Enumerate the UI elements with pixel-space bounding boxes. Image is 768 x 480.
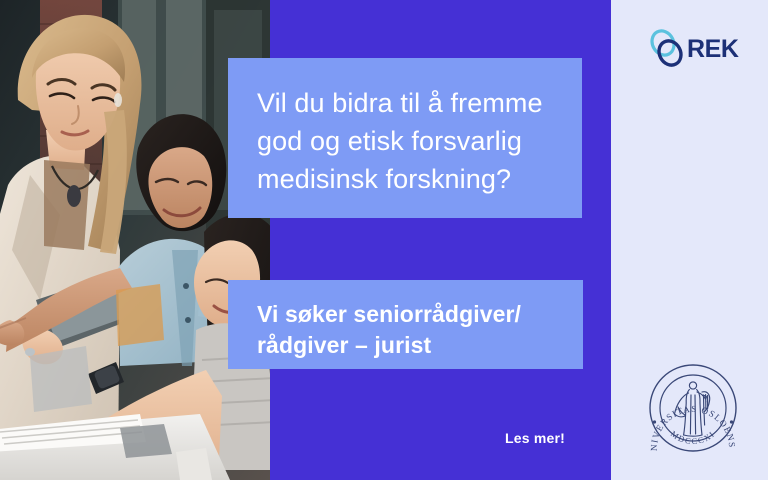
subheading-text: Vi søker seniorrådgiver/ rådgiver – juri…: [257, 299, 583, 361]
svg-text:MDCCCXI: MDCCCXI: [669, 429, 717, 446]
subheading-box: Vi søker seniorrådgiver/ rådgiver – juri…: [228, 280, 583, 369]
uio-seal: UNIVERSITAS OSLOENSIS MDCCCXI: [647, 362, 739, 454]
rek-interlocking-ellipses-icon: [650, 29, 684, 69]
headline-text: Vil du bidra til å fremme god og etisk f…: [257, 84, 582, 198]
job-advert-banner: Vil du bidra til å fremme god og etisk f…: [0, 0, 768, 480]
rek-wordmark: REK: [687, 37, 739, 62]
rek-logo[interactable]: REK: [650, 27, 736, 71]
read-more-link[interactable]: Les mer!: [505, 430, 565, 446]
headline-box: Vil du bidra til å fremme god og etisk f…: [228, 58, 582, 218]
